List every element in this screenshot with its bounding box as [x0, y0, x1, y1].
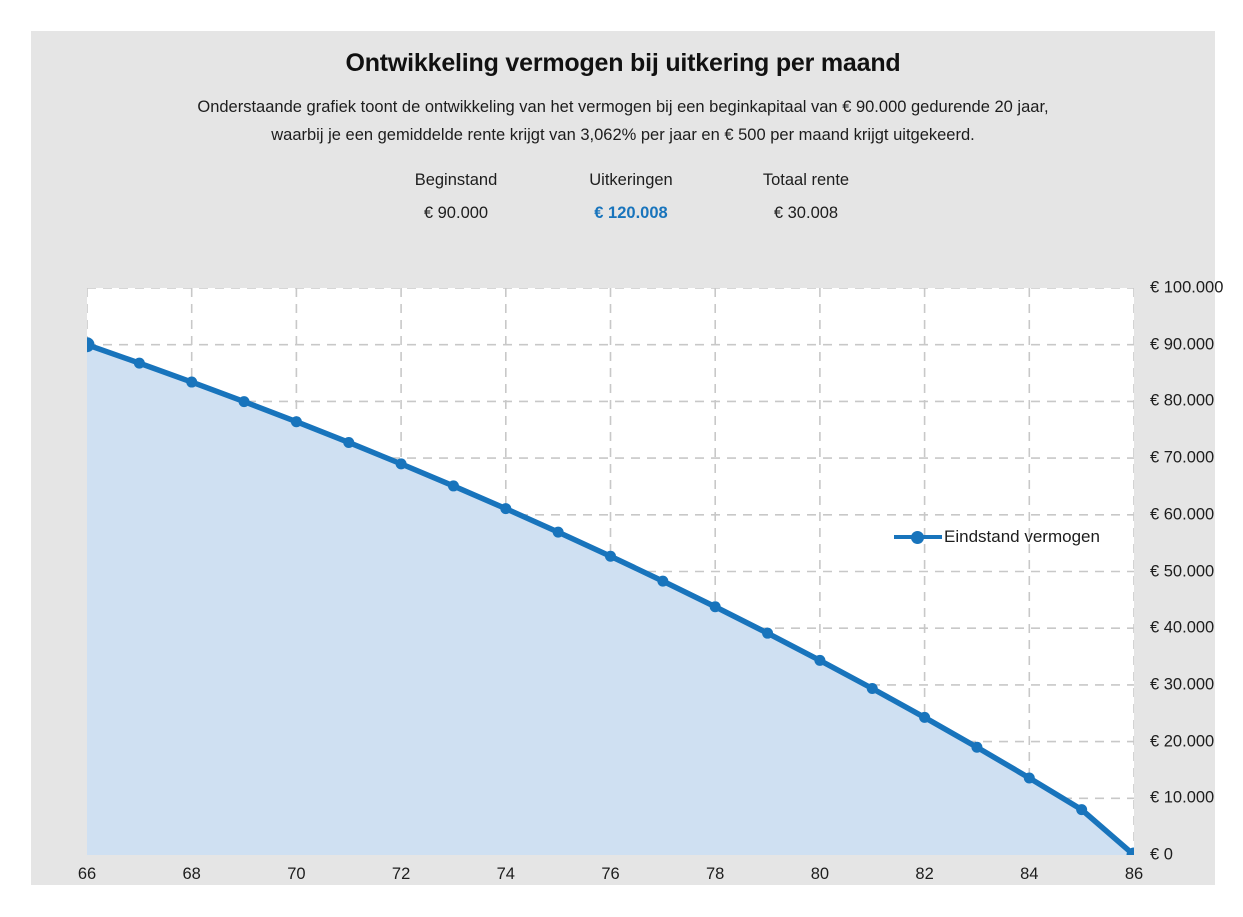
x-axis-tick-label: 76	[601, 865, 619, 884]
x-axis-tick-label: 78	[706, 865, 724, 884]
x-axis-tick-label: 68	[183, 865, 201, 884]
stat-beginstand-label: Beginstand	[371, 171, 541, 190]
y-axis-tick-label: € 30.000	[1150, 675, 1214, 694]
stat-totaal-rente-label: Totaal rente	[721, 171, 891, 190]
x-axis-tick-label: 74	[497, 865, 515, 884]
y-axis-tick-label: € 10.000	[1150, 789, 1214, 808]
stat-uitkeringen-label: Uitkeringen	[546, 171, 716, 190]
legend-item-label: Eindstand vermogen	[944, 527, 1100, 547]
stat-beginstand: Beginstand € 90.000	[371, 171, 541, 223]
y-axis-tick-label: € 60.000	[1150, 505, 1214, 524]
x-axis-tick-label: 86	[1125, 865, 1143, 884]
stat-beginstand-value: € 90.000	[371, 204, 541, 223]
subtitle-line-2: waarbij je een gemiddelde rente krijgt v…	[91, 121, 1155, 149]
y-axis-tick-label: € 50.000	[1150, 562, 1214, 581]
x-axis-tick-label: 80	[811, 865, 829, 884]
y-axis-tick-label: € 0	[1150, 846, 1173, 865]
y-axis-tick-label: € 70.000	[1150, 449, 1214, 468]
chart-subtitle: Onderstaande grafiek toont de ontwikkeli…	[91, 93, 1155, 149]
chart-card: Ontwikkeling vermogen bij uitkering per …	[31, 31, 1215, 885]
stat-totaal-rente: Totaal rente € 30.008	[721, 171, 891, 223]
y-axis-labels: € 0€ 10.000€ 20.000€ 30.000€ 40.000€ 50.…	[1142, 288, 1243, 855]
stat-uitkeringen-value: € 120.008	[546, 204, 716, 223]
plot-canvas	[87, 288, 1134, 855]
y-axis-tick-label: € 100.000	[1150, 279, 1223, 298]
x-axis-tick-label: 70	[287, 865, 305, 884]
subtitle-line-1: Onderstaande grafiek toont de ontwikkeli…	[91, 93, 1155, 121]
y-axis-tick-label: € 90.000	[1150, 335, 1214, 354]
chart-plot-area: € 0€ 10.000€ 20.000€ 30.000€ 40.000€ 50.…	[56, 255, 1215, 875]
x-axis-tick-label: 72	[392, 865, 410, 884]
stat-totaal-rente-value: € 30.008	[721, 204, 891, 223]
y-axis-tick-label: € 80.000	[1150, 392, 1214, 411]
x-axis-tick-label: 82	[915, 865, 933, 884]
summary-stats: Beginstand € 90.000 Uitkeringen € 120.00…	[371, 171, 891, 223]
chart-legend[interactable]: Eindstand vermogen	[894, 527, 1100, 547]
x-axis-labels: 6668707274767880828486	[87, 861, 1134, 901]
y-axis-tick-label: € 40.000	[1150, 619, 1214, 638]
page-title: Ontwikkeling vermogen bij uitkering per …	[31, 49, 1215, 78]
stat-uitkeringen: Uitkeringen € 120.008	[546, 171, 716, 223]
x-axis-tick-label: 66	[78, 865, 96, 884]
legend-line-marker-icon	[894, 530, 942, 544]
y-axis-tick-label: € 20.000	[1150, 732, 1214, 751]
line-chart-svg	[87, 288, 1134, 855]
x-axis-tick-label: 84	[1020, 865, 1038, 884]
